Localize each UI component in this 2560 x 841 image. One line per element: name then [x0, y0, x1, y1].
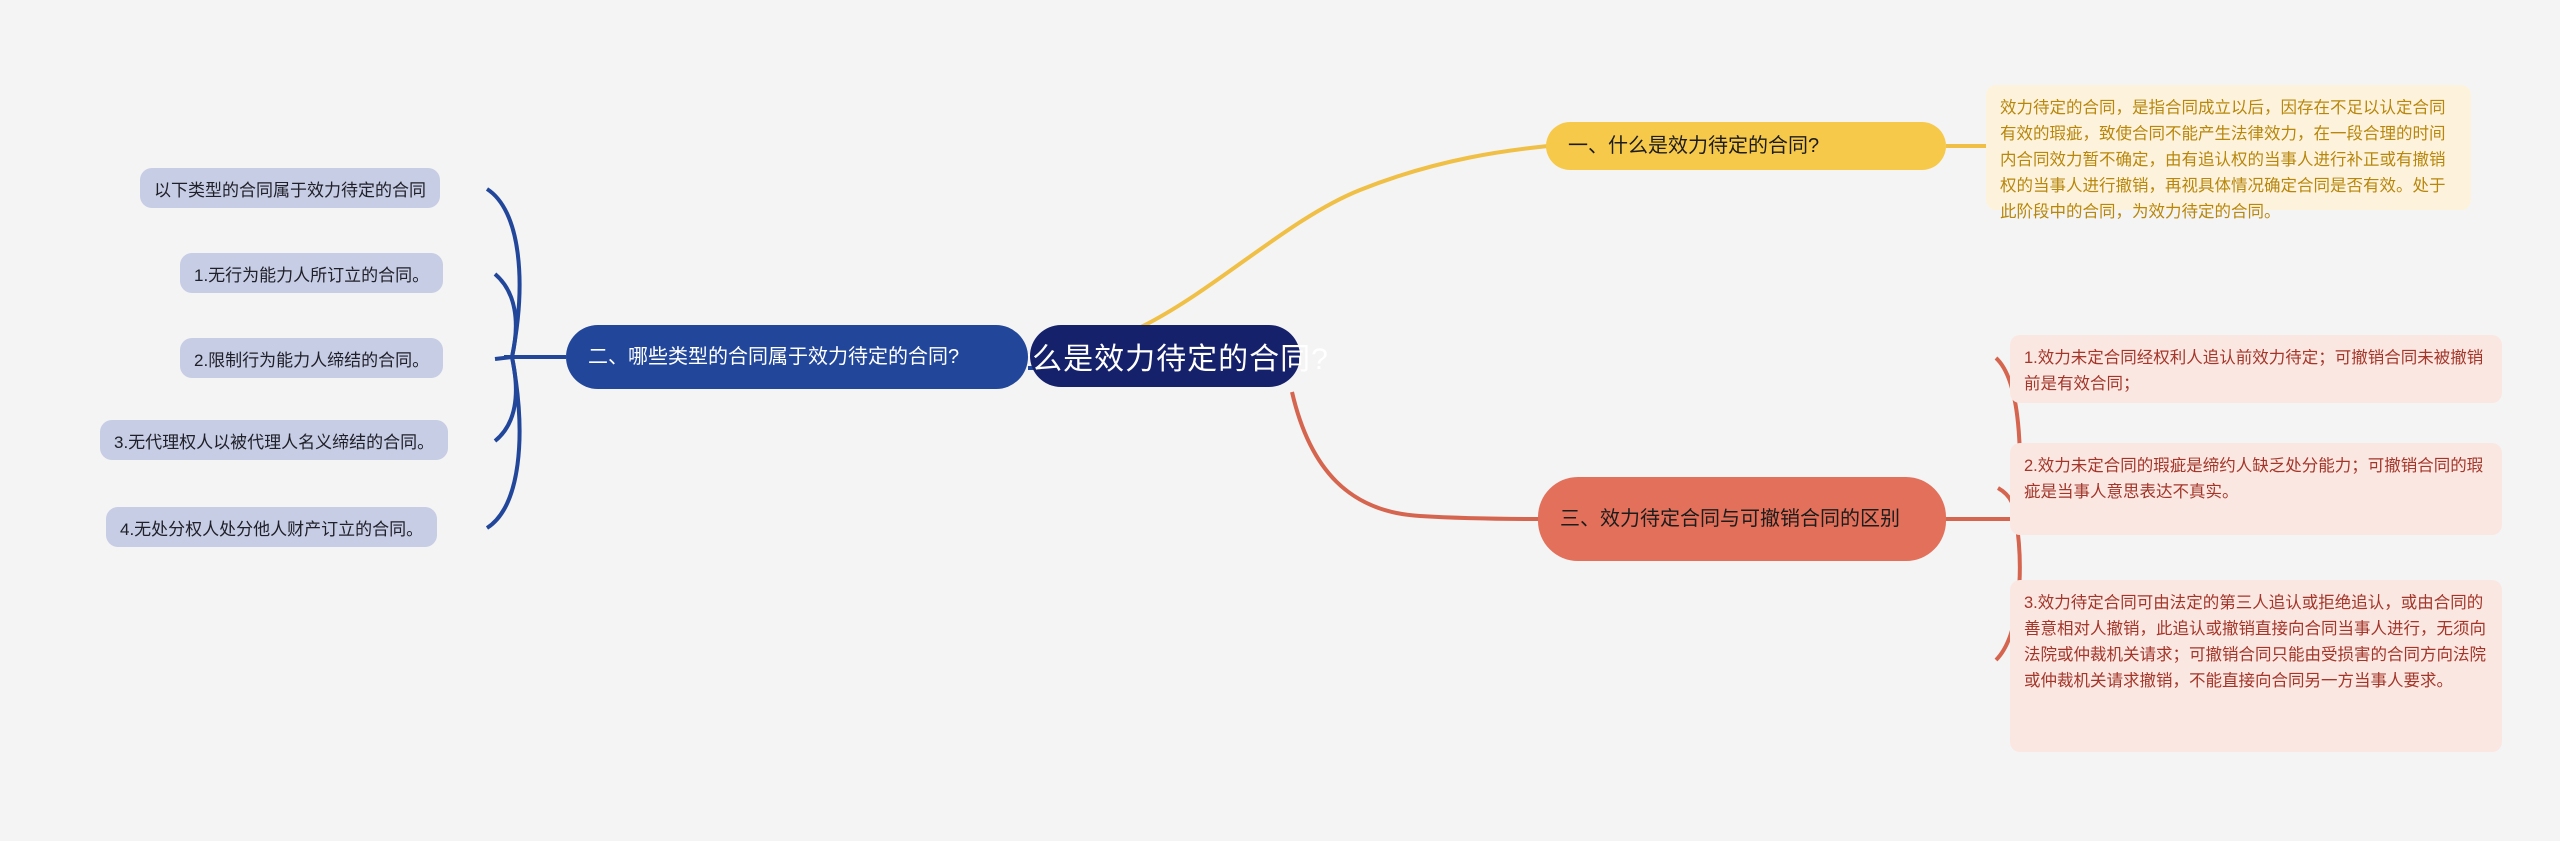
branch-three-note-3: 3.效力待定合同可由法定的第三人追认或拒绝追认，或由合同的善意相对人撤销，此追认…: [2010, 580, 2502, 752]
leaf-label-3: 2.限制行为能力人缔结的合同。: [194, 346, 429, 371]
connector-leaf-1: [487, 189, 520, 357]
connector-leaf-3: [495, 357, 512, 359]
branch-three-note-3-text: 3.效力待定合同可由法定的第三人追认或拒绝追认，或由合同的善意相对人撤销，此追认…: [2024, 594, 2486, 690]
leaf-label-4: 3.无代理权人以被代理人名义缔结的合同。: [114, 428, 434, 453]
branch-three-note-2: 2.效力未定合同的瑕疵是缔约人缺乏处分能力；可撤销合同的瑕疵是当事人意思表达不真…: [2010, 443, 2502, 535]
branch-two-label: 二、哪些类型的合同属于效力待定的合同?: [588, 344, 959, 371]
branch-three-label: 三、效力待定合同与可撤销合同的区别: [1560, 506, 1900, 533]
connector-leaf-2: [495, 274, 516, 357]
leaf-label-5: 4.无处分权人处分他人财产订立的合同。: [120, 515, 423, 540]
branch-one-note: 效力待定的合同，是指合同成立以后，因存在不足以认定合同有效的瑕疵，致使合同不能产…: [1986, 85, 2471, 210]
branch-three-node[interactable]: 三、效力待定合同与可撤销合同的区别: [1538, 477, 1946, 561]
list-item[interactable]: 以下类型的合同属于效力待定的合同: [140, 168, 440, 208]
branch-one-node[interactable]: 一、什么是效力待定的合同?: [1546, 122, 1946, 170]
mindmap-canvas: 什么是效力待定的合同? 一、什么是效力待定的合同? 效力待定的合同，是指合同成立…: [0, 0, 2560, 841]
branch-three-note-2-text: 2.效力未定合同的瑕疵是缔约人缺乏处分能力；可撤销合同的瑕疵是当事人意思表达不真…: [2024, 457, 2483, 501]
connector-root-to-branch-one: [1048, 146, 1548, 352]
root-node-label: 什么是效力待定的合同?: [1001, 334, 1329, 378]
connector-leaf-4: [495, 357, 516, 441]
list-item[interactable]: 3.无代理权人以被代理人名义缔结的合同。: [100, 420, 448, 460]
list-item[interactable]: 4.无处分权人处分他人财产订立的合同。: [106, 507, 437, 547]
connector-leaf-5: [487, 357, 520, 528]
leaf-label-2: 1.无行为能力人所订立的合同。: [194, 261, 429, 286]
list-item[interactable]: 2.限制行为能力人缔结的合同。: [180, 338, 443, 378]
branch-one-label: 一、什么是效力待定的合同?: [1568, 133, 1819, 160]
branch-two-node[interactable]: 二、哪些类型的合同属于效力待定的合同?: [566, 325, 1028, 389]
leaf-label-1: 以下类型的合同属于效力待定的合同: [154, 176, 426, 201]
branch-three-note-1-text: 1.效力未定合同经权利人追认前效力待定；可撤销合同未被撤销前是有效合同；: [2024, 349, 2483, 393]
root-node[interactable]: 什么是效力待定的合同?: [1030, 325, 1300, 387]
branch-three-note-1: 1.效力未定合同经权利人追认前效力待定；可撤销合同未被撤销前是有效合同；: [2010, 335, 2502, 403]
branch-one-note-text: 效力待定的合同，是指合同成立以后，因存在不足以认定合同有效的瑕疵，致使合同不能产…: [2000, 99, 2446, 221]
connector-root-to-branch-three: [1292, 392, 1538, 519]
list-item[interactable]: 1.无行为能力人所订立的合同。: [180, 253, 443, 293]
